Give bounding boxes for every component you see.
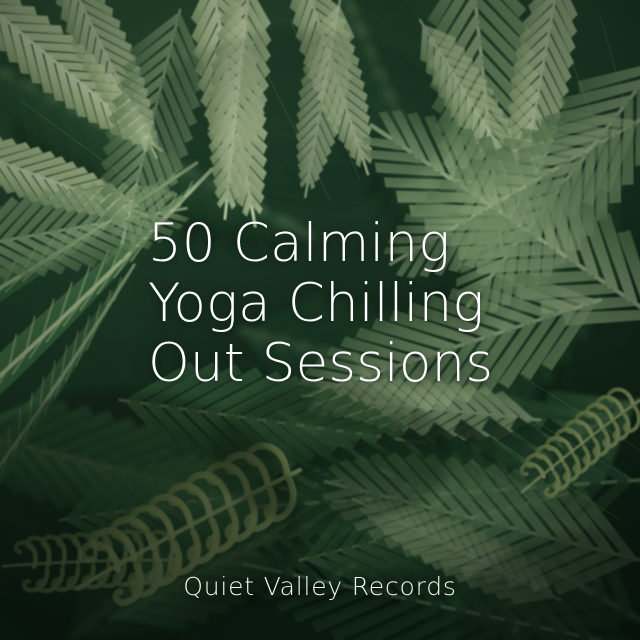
album-title-line-2: Yoga Chilling: [148, 274, 548, 334]
cover-text-layer: 50 Calming Yoga Chilling Out Sessions Qu…: [0, 0, 640, 640]
album-title-line-1: 50 Calming: [148, 214, 548, 274]
album-cover: 50 Calming Yoga Chilling Out Sessions Qu…: [0, 0, 640, 640]
album-title-line-3: Out Sessions: [148, 334, 548, 394]
album-title: 50 Calming Yoga Chilling Out Sessions: [148, 214, 548, 394]
record-label-name: Quiet Valley Records: [0, 572, 640, 601]
